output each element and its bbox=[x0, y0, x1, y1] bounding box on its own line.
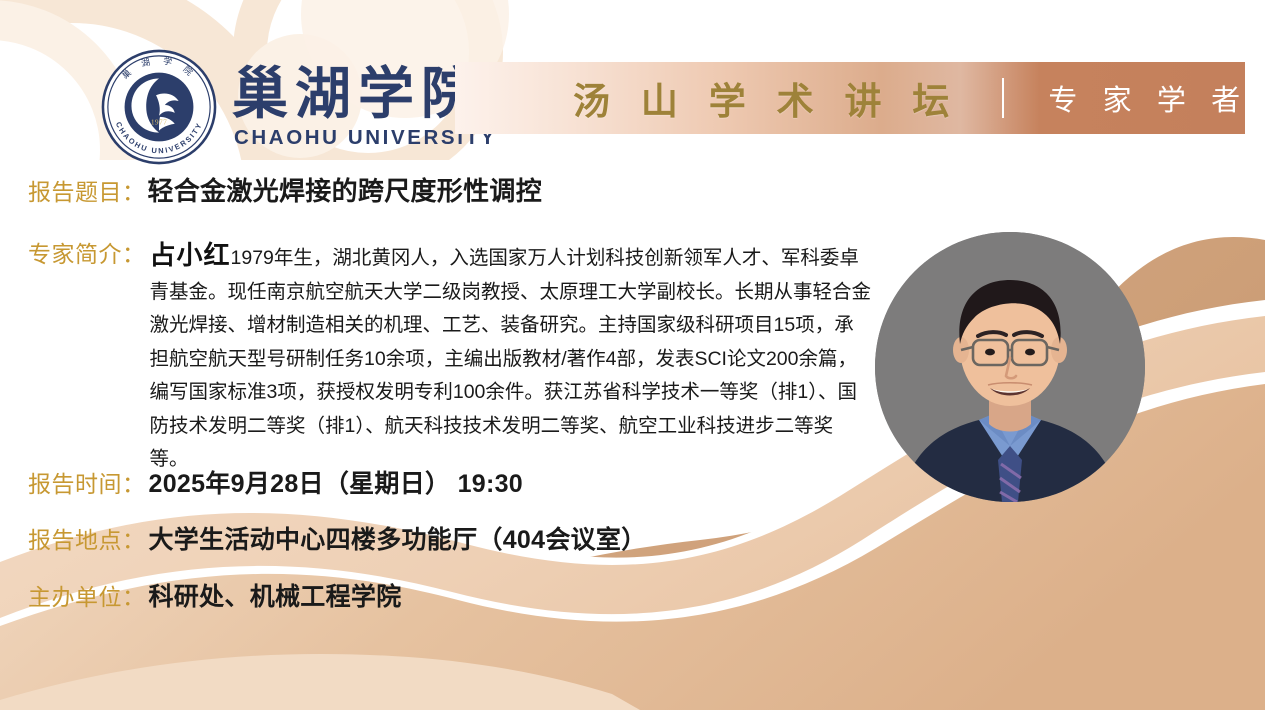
topic-label: 报告题目： bbox=[28, 173, 146, 207]
speaker-name: 占小红 bbox=[150, 240, 231, 270]
lecture-series-banner: 汤 山 学 术 讲 坛 专 家 学 者 专 场 bbox=[455, 62, 1245, 134]
row-place: 报告地点： 大学生活动中心四楼多功能厅（404会议室） bbox=[28, 520, 647, 556]
topic-value: 轻合金激光焊接的跨尺度形性调控 bbox=[148, 171, 543, 208]
host-label: 主办单位： bbox=[28, 578, 146, 612]
time-label: 报告时间： bbox=[28, 465, 146, 499]
banner-divider bbox=[1002, 78, 1004, 118]
banner-subtitle: 专 家 学 者 专 场 bbox=[1048, 77, 1265, 119]
row-bio: 专家简介： 占小红1979年生，湖北黄冈人，入选国家万人计划科技创新领军人才、军… bbox=[28, 235, 872, 477]
bio-body: 占小红1979年生，湖北黄冈人，入选国家万人计划科技创新领军人才、军科委卓青基金… bbox=[150, 235, 872, 477]
bio-paragraph: 占小红1979年生，湖北黄冈人，入选国家万人计划科技创新领军人才、军科委卓青基金… bbox=[150, 235, 872, 477]
speaker-portrait bbox=[875, 232, 1145, 502]
svg-text:1977: 1977 bbox=[151, 118, 167, 127]
poster-header: 1977 巢 湖 学 院 CHAOHU UNIVERSITY 巢湖学院 CHAO… bbox=[0, 0, 1265, 160]
place-label: 报告地点： bbox=[28, 521, 146, 555]
poster-root: 1977 巢 湖 学 院 CHAOHU UNIVERSITY 巢湖学院 CHAO… bbox=[0, 0, 1265, 710]
bio-label: 专家简介： bbox=[28, 235, 146, 269]
university-logo: 1977 巢 湖 学 院 CHAOHU UNIVERSITY 巢湖学院 CHAO… bbox=[100, 48, 497, 166]
row-host: 主办单位： 科研处、机械工程学院 bbox=[28, 577, 402, 613]
row-time: 报告时间： 2025年9月28日（星期日） 19:30 bbox=[28, 464, 523, 500]
bio-text: 1979年生，湖北黄冈人，入选国家万人计划科技创新领军人才、军科委卓青基金。现任… bbox=[150, 247, 872, 470]
chaohu-university-seal-icon: 1977 巢 湖 学 院 CHAOHU UNIVERSITY bbox=[100, 48, 218, 166]
row-topic: 报告题目： 轻合金激光焊接的跨尺度形性调控 bbox=[28, 171, 542, 208]
banner-main-title: 汤 山 学 术 讲 坛 bbox=[573, 71, 958, 125]
host-value: 科研处、机械工程学院 bbox=[149, 577, 402, 613]
time-value: 2025年9月28日（星期日） 19:30 bbox=[149, 464, 524, 500]
place-value: 大学生活动中心四楼多功能厅（404会议室） bbox=[149, 520, 647, 556]
